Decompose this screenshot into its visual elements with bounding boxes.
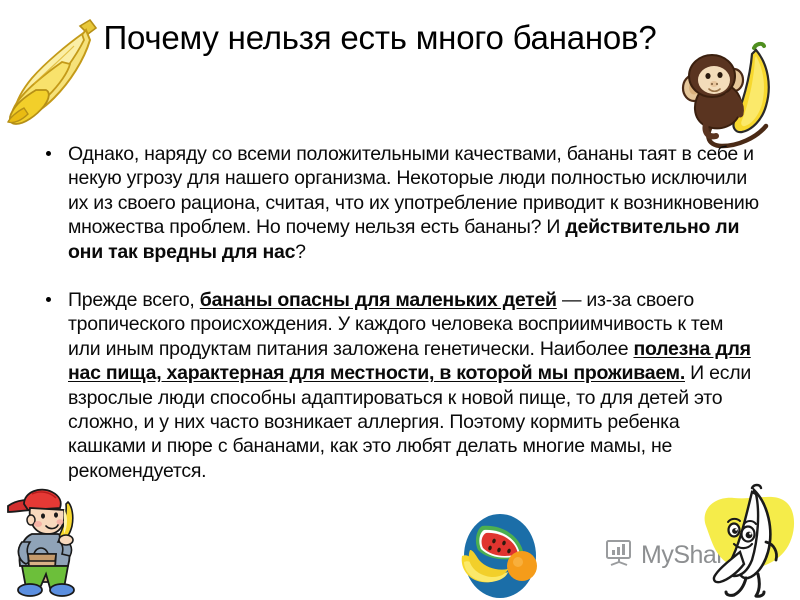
page-title: Почему нельзя есть много бананов? bbox=[100, 18, 660, 58]
banana-peel-illustration bbox=[2, 12, 106, 130]
paragraph-run: ? bbox=[295, 241, 306, 263]
monkey-with-banana-illustration bbox=[672, 34, 792, 152]
fruit-bowl-illustration bbox=[448, 512, 552, 600]
slide-canvas: Почему нельзя есть много бананов? bbox=[0, 0, 800, 600]
presentation-chart-icon bbox=[604, 538, 634, 573]
boy-with-banana-illustration bbox=[2, 482, 112, 598]
list-item: Однако, наряду со всеми положительными к… bbox=[40, 142, 760, 264]
list-item: Прежде всего, бананы опасны для маленьки… bbox=[40, 288, 760, 483]
paragraph-run-bold-underline: бананы опасны для маленьких детей bbox=[200, 289, 557, 311]
bullet-marker-icon bbox=[46, 151, 51, 156]
bullet-marker-icon bbox=[46, 297, 51, 302]
body-content: Однако, наряду со всеми положительными к… bbox=[40, 142, 760, 483]
banana-character-illustration bbox=[700, 482, 800, 600]
paragraph-run: Прежде всего, bbox=[68, 289, 200, 311]
